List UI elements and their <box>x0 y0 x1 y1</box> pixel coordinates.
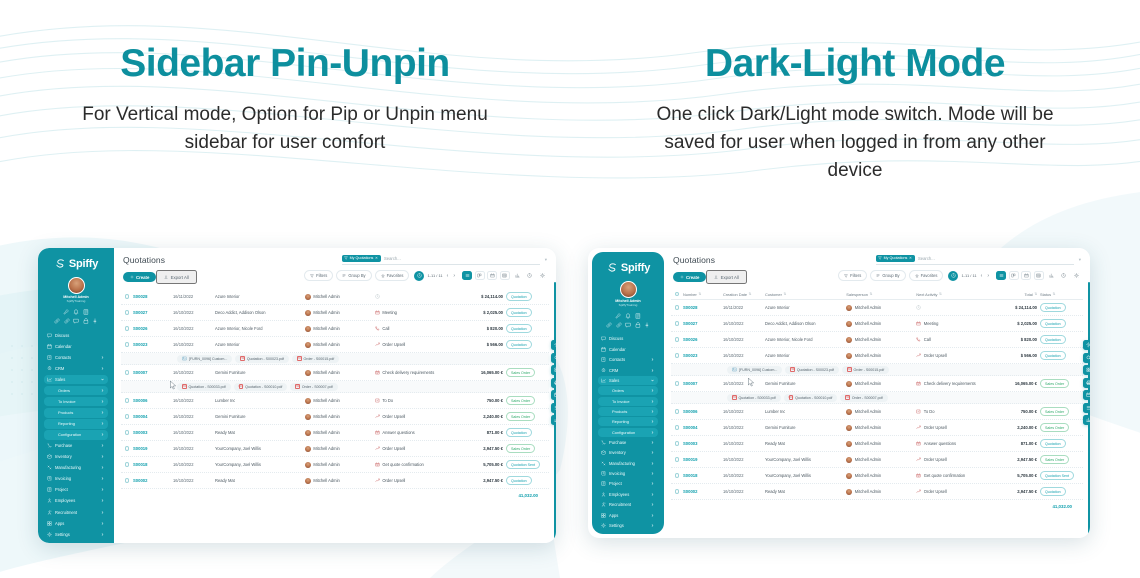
pager-prev-button[interactable]: ‹ <box>446 273 450 279</box>
invoicing-icon <box>47 476 52 481</box>
table-row[interactable]: S0000416/10/2022Gemini FurnitureMitchell… <box>671 420 1083 436</box>
sidebar-menu: DiscussCalendarContactsCRMSalesOrdersTo … <box>596 332 660 530</box>
table-row[interactable]: S0001916/10/2022YourCompany, Joel Willis… <box>121 441 549 457</box>
cell-next-activity[interactable]: To Do <box>375 398 393 403</box>
search-facet-my-quotations[interactable]: My Quotations✕ <box>876 255 915 262</box>
activity-label: Order Upsell <box>924 489 947 494</box>
attachment-label: Quotation - S00033.pdf <box>739 396 776 400</box>
sidebar-item-manufacturing[interactable]: Manufacturing <box>44 463 108 473</box>
cell-creation-date: 16/11/2022 <box>173 294 193 299</box>
cell-number[interactable]: S00023 <box>683 353 697 358</box>
activity-label: Order Upsell <box>382 342 405 347</box>
cell-number[interactable]: S00006 <box>133 398 147 403</box>
create-button[interactable]: Create <box>673 272 706 282</box>
status-badge: Quotation Sent <box>506 460 540 469</box>
rail-button-grid-rail[interactable] <box>551 365 556 375</box>
select-all-checkbox[interactable] <box>675 292 683 296</box>
chat-icon-button[interactable] <box>625 322 631 328</box>
column-header-salesperson[interactable]: Salesperson⇅ <box>846 292 916 297</box>
sidebar-item-recruitment[interactable]: Recruitment <box>44 507 108 517</box>
sidebar-item-settings[interactable]: Settings <box>44 529 108 539</box>
pager-prev-button[interactable]: ‹ <box>980 273 984 279</box>
rail-button-chart-rail[interactable] <box>1083 415 1090 425</box>
refresh-icon[interactable] <box>1071 271 1081 280</box>
purchase-icon <box>47 443 52 448</box>
cell-salesperson: Mitchell Admin <box>846 489 881 495</box>
activity-label: Order Upsell <box>924 353 947 358</box>
wrench-icon-button[interactable] <box>615 313 621 319</box>
cell-next-activity[interactable]: Order Upsell <box>916 425 946 430</box>
link-icon-button[interactable] <box>606 322 612 328</box>
view-switcher <box>996 271 1081 280</box>
table-row[interactable]: S0002716/10/2022Deco Addict, Addison Ols… <box>671 316 1083 332</box>
view-button-calendar-view[interactable] <box>487 271 497 280</box>
row-checkbox[interactable] <box>675 305 683 309</box>
cell-customer: Lumber Inc <box>215 398 235 403</box>
lock-icon-button[interactable] <box>635 322 641 328</box>
cell-next-activity[interactable]: Order Upsell <box>375 446 405 451</box>
sidebar-item-configuration[interactable]: Configuration <box>44 430 108 440</box>
avatar <box>846 441 852 447</box>
cell-next-activity[interactable]: Call <box>916 337 931 342</box>
sidebar-item-project[interactable]: Project <box>44 485 108 495</box>
filters-button[interactable]: Filters <box>838 270 867 281</box>
link-icon-button[interactable] <box>54 318 60 324</box>
cell-number[interactable]: S00018 <box>683 473 697 478</box>
link-alt-icon-button[interactable] <box>64 318 70 324</box>
cell-creation-date: 16/10/2022 <box>173 462 194 467</box>
avatar <box>68 277 85 294</box>
cell-total: 5,705.00 € <box>483 462 503 467</box>
bell-icon-button[interactable] <box>625 313 631 319</box>
sidebar-item-orders[interactable]: Orders <box>598 386 658 395</box>
star-icon <box>381 274 385 278</box>
sidebar-item-inventory[interactable]: Inventory <box>44 452 108 462</box>
attachment-chip[interactable]: PDFQuotation - S00023.pdf <box>235 355 289 363</box>
cell-next-activity[interactable]: Check delivery requirements <box>375 370 434 375</box>
sidebar-item-products[interactable]: Products <box>598 407 658 416</box>
cell-number[interactable]: S00028 <box>133 294 147 299</box>
attachment-chip[interactable]: PDFOrder - S00015.pdf <box>292 355 339 363</box>
cell-number[interactable]: S00026 <box>683 337 697 342</box>
cell-next-activity[interactable] <box>375 294 383 299</box>
attachment-chip[interactable]: PDFQuotation - S00033.pdf <box>177 383 231 391</box>
row-checkbox[interactable] <box>125 430 133 434</box>
chevron-right-icon <box>101 499 104 502</box>
create-button[interactable]: Create <box>123 272 156 282</box>
attachment-chips: PDFQuotation - S00033.pdfPDFQuotation - … <box>675 394 888 402</box>
sidebar-item-invoicing[interactable]: Invoicing <box>44 474 108 484</box>
calculator-icon-button[interactable] <box>83 309 89 315</box>
cell-salesperson: Mitchell Admin <box>305 310 340 316</box>
search-rail-icon <box>1086 355 1090 361</box>
salesperson-name: Mitchell Admin <box>313 414 339 419</box>
close-icon[interactable]: ✕ <box>909 256 912 260</box>
rail-button-print-rail[interactable] <box>551 378 556 388</box>
plus-icon <box>680 275 684 279</box>
column-label: Customer <box>765 292 782 297</box>
export-all-button[interactable]: Export All <box>706 270 746 284</box>
sidebar-item-reporting[interactable]: Reporting <box>44 419 108 429</box>
attachment-chip[interactable]: [FURN_0096] Custom... <box>177 355 232 363</box>
view-button-activity-view[interactable] <box>525 271 535 280</box>
table-row[interactable]: S0000316/10/2022Ready MatMitchell AdminA… <box>671 436 1083 452</box>
filter-icon <box>344 256 348 260</box>
sidebar-item-crm[interactable]: CRM <box>598 365 658 374</box>
rail-button-list-rail[interactable] <box>1083 403 1090 413</box>
column-header-customer[interactable]: Customer⇅ <box>765 292 846 297</box>
cell-number[interactable]: S00006 <box>683 409 697 414</box>
table-row[interactable]: S0000416/10/2022Gemini FurnitureMitchell… <box>121 409 549 425</box>
refresh-icon[interactable] <box>537 271 547 280</box>
view-button-pivot-view[interactable] <box>1034 271 1044 280</box>
search-input[interactable]: My Quotations✕Search... <box>342 255 540 265</box>
sidebar-item-crm[interactable]: CRM <box>44 363 108 373</box>
cell-next-activity[interactable]: Order Upsell <box>916 457 946 462</box>
row-checkbox[interactable] <box>675 473 683 477</box>
sidebar-item-reporting[interactable]: Reporting <box>598 417 658 426</box>
cell-number[interactable]: S00007 <box>133 370 147 375</box>
table-row[interactable]: S0002616/10/2022Azure Interior, Nicole F… <box>671 332 1083 348</box>
brand-logo[interactable]: Spiffy <box>42 255 110 275</box>
salesperson-name: Mitchell Admin <box>313 478 339 483</box>
wrench-icon-button[interactable] <box>63 309 69 315</box>
floating-right-rail <box>1083 340 1090 425</box>
rail-button-settings-gear[interactable] <box>551 340 556 350</box>
invoicing-icon <box>601 471 606 476</box>
salesperson-name: Mitchell Admin <box>855 337 881 342</box>
column-header-total[interactable]: Total⇅ <box>987 292 1037 297</box>
sidebar-item-employees[interactable]: Employees <box>598 490 658 499</box>
sidebar-item-discuss[interactable]: Discuss <box>44 330 108 340</box>
cell-creation-date: 16/10/2022 <box>173 310 194 315</box>
column-header-number[interactable]: Number⇅ <box>683 292 723 297</box>
column-header-status[interactable]: Status⇅ <box>1037 292 1079 297</box>
rail-button-chart-rail[interactable] <box>551 415 556 425</box>
row-checkbox[interactable] <box>125 370 133 374</box>
row-checkbox[interactable] <box>125 414 133 418</box>
table-row[interactable]: S0001916/10/2022YourCompany, Joel Willis… <box>671 452 1083 468</box>
cell-number[interactable]: S00028 <box>683 305 697 310</box>
view-button-pivot-view[interactable] <box>500 271 510 280</box>
table-row[interactable]: S0000616/10/2022Lumber IncMitchell Admin… <box>671 404 1083 420</box>
sort-icon: ⇅ <box>1053 292 1056 296</box>
cell-number[interactable]: S00007 <box>683 381 697 386</box>
cell-next-activity[interactable] <box>916 305 924 310</box>
cell-number[interactable]: S00003 <box>133 430 147 435</box>
cell-next-activity[interactable]: Check delivery requirements <box>916 381 975 386</box>
row-checkbox[interactable] <box>675 337 683 341</box>
rail-button-search-rail[interactable] <box>1083 353 1090 363</box>
sidebar-item-sales[interactable]: Sales <box>44 375 108 385</box>
avatar <box>846 457 852 463</box>
row-checkbox[interactable] <box>675 457 683 461</box>
view-button-kanban-view[interactable] <box>1009 271 1019 280</box>
status-badge: Quotation <box>506 476 532 485</box>
sidebar-item-label: Discuss <box>609 336 654 341</box>
table-row[interactable]: S0001816/10/2022YourCompany, Joel Willis… <box>121 457 549 473</box>
attachment-chip[interactable]: PDFOrder - S00007.pdf <box>840 394 887 402</box>
cell-number[interactable]: S00003 <box>683 441 697 446</box>
table-header-row: Number⇅Creation Date⇅Customer⇅Salesperso… <box>671 289 1083 300</box>
sidebar-item-contacts[interactable]: Contacts <box>598 355 658 364</box>
link-alt-icon <box>64 318 70 324</box>
group-by-label: Group By <box>882 273 899 278</box>
cell-next-activity[interactable]: Order Upsell <box>375 478 405 483</box>
row-checkbox[interactable] <box>125 462 133 466</box>
column-header-creation-date[interactable]: Creation Date⇅ <box>723 292 765 297</box>
table-row[interactable]: S0002316/10/2022Azure InteriorMitchell A… <box>671 348 1083 364</box>
attachment-label: Quotation - S00023.pdf <box>797 368 834 372</box>
pdf-icon: PDF <box>790 367 795 372</box>
link-alt-icon-button[interactable] <box>616 322 622 328</box>
cell-next-activity[interactable]: Meeting <box>375 310 397 315</box>
wrench-icon <box>615 313 621 319</box>
chevron-right-icon <box>101 444 104 447</box>
activity-clock-icon[interactable] <box>948 271 958 281</box>
rail-button-list-rail[interactable] <box>551 403 556 413</box>
search-facet-my-quotations[interactable]: My Quotations✕ <box>342 255 381 262</box>
chevron-right-icon <box>651 514 654 517</box>
attachment-chip[interactable]: PDFQuotation - S00023.pdf <box>785 366 839 374</box>
cell-next-activity[interactable]: Get quote confirmation <box>916 473 965 478</box>
sidebar-item-employees[interactable]: Employees <box>44 496 108 506</box>
table-row[interactable]: S0000216/10/2022Ready MatMitchell AdminO… <box>121 473 549 489</box>
group-by-button[interactable]: Group By <box>336 270 371 281</box>
chevron-down-icon[interactable]: ▾ <box>545 257 547 263</box>
contacts-icon <box>47 355 52 360</box>
cell-next-activity[interactable]: Order Upsell <box>916 353 946 358</box>
cell-number[interactable]: S00026 <box>133 326 147 331</box>
cell-next-activity[interactable]: To Do <box>916 409 934 414</box>
close-icon[interactable]: ✕ <box>375 256 378 260</box>
calculator-icon-button[interactable] <box>635 313 641 319</box>
sidebar-item-settings[interactable]: Settings <box>598 521 658 530</box>
sidebar-item-configuration[interactable]: Configuration <box>598 428 658 437</box>
avatar <box>846 425 852 431</box>
pane-header: QuotationsCreateExport AllMy Quotations✕… <box>664 248 1090 284</box>
attachment-label: Quotation - S00010.pdf <box>795 396 832 400</box>
sidebar-item-label: Invoicing <box>609 471 648 476</box>
sidebar-item-apps[interactable]: Apps <box>44 518 108 528</box>
filters-button[interactable]: Filters <box>304 270 333 281</box>
settings-gear-icon <box>1086 342 1090 348</box>
pin-icon-button[interactable] <box>92 318 98 324</box>
user-profile[interactable]: Mitchell AdminSpiffyTraining <box>596 279 660 311</box>
confirm-icon <box>375 462 380 467</box>
activity-label: Answer questions <box>382 430 414 435</box>
favorites-button[interactable]: Favorites <box>375 270 410 281</box>
table-row[interactable]: S0002616/10/2022Azure Interior, Nicole F… <box>121 321 549 337</box>
cell-number[interactable]: S00019 <box>683 457 697 462</box>
table-row[interactable]: S0002816/11/2022Azure InteriorMitchell A… <box>121 289 549 305</box>
call-icon <box>375 326 380 331</box>
cell-number[interactable]: S00004 <box>133 414 147 419</box>
sidebar-item-orders[interactable]: Orders <box>44 386 108 396</box>
sidebar-item-label: Calendar <box>609 347 654 352</box>
table-row[interactable]: S0000316/10/2022Ready MatMitchell AdminA… <box>121 425 549 441</box>
facet-label: My Quotations <box>884 256 908 260</box>
attachment-chip[interactable]: PDFQuotation - S00010.pdf <box>784 394 838 402</box>
rail-button-calendar-rail[interactable] <box>1083 390 1090 400</box>
view-switcher <box>462 271 547 280</box>
cell-number[interactable]: S00019 <box>133 446 147 451</box>
table-row[interactable]: S0000716/10/2022Gemini FurnitureMitchell… <box>671 376 1083 392</box>
chevron-right-icon <box>101 522 104 525</box>
table-row[interactable]: S0002316/10/2022Azure InteriorMitchell A… <box>121 337 549 353</box>
pin-icon-button[interactable] <box>644 322 650 328</box>
sidebar-item-purchase[interactable]: Purchase <box>598 438 658 447</box>
cell-number[interactable]: S00004 <box>683 425 697 430</box>
cell-number[interactable]: S00023 <box>133 342 147 347</box>
view-button-graph-view[interactable] <box>1046 271 1056 280</box>
cell-next-activity[interactable]: Call <box>375 326 390 331</box>
view-button-calendar-view[interactable] <box>1021 271 1031 280</box>
status-badge: Sales Order <box>506 412 535 421</box>
cell-next-activity[interactable]: Meeting <box>916 321 938 326</box>
view-button-list-view[interactable] <box>462 271 472 280</box>
cell-number[interactable]: S00018 <box>133 462 147 467</box>
pin-icon <box>644 322 650 328</box>
row-checkbox[interactable] <box>675 353 683 357</box>
sidebar-item-products[interactable]: Products <box>44 408 108 418</box>
floating-right-rail <box>551 340 556 425</box>
view-button-activity-view[interactable] <box>1059 271 1069 280</box>
table-row[interactable]: S0001816/10/2022YourCompany, Joel Willis… <box>671 468 1083 484</box>
table-row[interactable]: S0000616/10/2022Lumber IncMitchell Admin… <box>121 393 549 409</box>
cell-number[interactable]: S00002 <box>683 489 697 494</box>
row-checkbox[interactable] <box>125 398 133 402</box>
pdf-icon: PDF <box>182 384 187 389</box>
attachment-chip[interactable]: [FURN_0096] Custom... <box>727 366 782 374</box>
sort-icon: ⇅ <box>749 292 752 296</box>
chat-icon-button[interactable] <box>73 318 79 324</box>
sidebar-item-sales[interactable]: Sales <box>598 376 658 385</box>
salesperson-name: Mitchell Admin <box>313 342 339 347</box>
sidebar-item-to-invoice[interactable]: To Invoice <box>598 397 658 406</box>
chevron-down-icon[interactable]: ▾ <box>1079 257 1081 263</box>
cell-next-activity[interactable]: Order Upsell <box>916 489 946 494</box>
cell-next-activity[interactable]: Get quote confirmation <box>375 462 424 467</box>
sidebar-item-purchase[interactable]: Purchase <box>44 441 108 451</box>
row-checkbox[interactable] <box>125 310 133 314</box>
brand-logo[interactable]: Spiffy <box>596 259 660 279</box>
sidebar-item-contacts[interactable]: Contacts <box>44 352 108 362</box>
attachment-label: [FURN_0096] Custom... <box>739 368 777 372</box>
rail-button-calendar-rail[interactable] <box>551 390 556 400</box>
row-checkbox[interactable] <box>125 446 133 450</box>
cell-next-activity[interactable]: Order Upsell <box>375 414 405 419</box>
sidebar-item-recruitment[interactable]: Recruitment <box>598 500 658 509</box>
sidebar-item-label: Inventory <box>609 450 648 455</box>
group-by-button[interactable]: Group By <box>870 270 905 281</box>
favorites-button[interactable]: Favorites <box>909 270 944 281</box>
salesperson-name: Mitchell Admin <box>313 294 339 299</box>
rail-button-search-rail[interactable] <box>551 353 556 363</box>
cell-number[interactable]: S00002 <box>133 478 147 483</box>
status-badge: Quotation <box>1040 319 1066 328</box>
sidebar-item-to-invoice[interactable]: To Invoice <box>44 397 108 407</box>
cell-next-activity[interactable]: Answer questions <box>916 441 956 446</box>
search-input[interactable]: My Quotations✕Search... <box>876 255 1074 265</box>
favorites-label: Favorites <box>387 273 404 278</box>
sidebar-item-manufacturing[interactable]: Manufacturing <box>598 459 658 468</box>
row-checkbox[interactable] <box>675 321 683 325</box>
cell-creation-date: 16/10/2022 <box>723 409 744 414</box>
cell-salesperson: Mitchell Admin <box>846 353 881 359</box>
cell-salesperson: Mitchell Admin <box>305 462 340 468</box>
view-button-list-view[interactable] <box>996 271 1006 280</box>
table-row[interactable]: S0002716/10/2022Deco Addict, Addison Ols… <box>121 305 549 321</box>
salesperson-name: Mitchell Admin <box>855 321 881 326</box>
table-row[interactable]: S0000216/10/2022Ready MatMitchell AdminO… <box>671 484 1083 500</box>
table-footer-total: 41,032.00 <box>121 489 549 498</box>
attachment-chip[interactable]: PDFOrder - S00015.pdf <box>842 366 889 374</box>
salesperson-name: Mitchell Admin <box>855 409 881 414</box>
row-checkbox[interactable] <box>675 425 683 429</box>
cell-total: 750.00 € <box>487 398 503 403</box>
cell-total: 2,240.00 € <box>483 414 503 419</box>
attachment-chip[interactable]: PDFOrder - S00007.pdf <box>290 383 337 391</box>
row-checkbox[interactable] <box>675 489 683 493</box>
sidebar-item-apps[interactable]: Apps <box>598 510 658 519</box>
view-button-kanban-view[interactable] <box>475 271 485 280</box>
cell-salesperson: Mitchell Admin <box>305 342 340 348</box>
sidebar-item-discuss[interactable]: Discuss <box>598 334 658 343</box>
row-checkbox[interactable] <box>125 478 133 482</box>
cell-number[interactable]: S00027 <box>133 310 147 315</box>
manufacturing-icon <box>601 461 606 466</box>
row-checkbox[interactable] <box>125 342 133 346</box>
cell-number[interactable]: S00027 <box>683 321 697 326</box>
lock-icon-button[interactable] <box>83 318 89 324</box>
sidebar-item-invoicing[interactable]: Invoicing <box>598 469 658 478</box>
cell-next-activity[interactable]: Order Upsell <box>375 342 405 347</box>
pager-next-button[interactable]: › <box>452 273 456 279</box>
attachment-chip[interactable]: PDFQuotation - S00010.pdf <box>234 383 288 391</box>
row-checkbox[interactable] <box>125 326 133 330</box>
chat-icon <box>625 322 631 328</box>
row-checkbox[interactable] <box>125 294 133 298</box>
row-checkbox[interactable] <box>675 409 683 413</box>
rail-button-print-rail[interactable] <box>1083 378 1090 388</box>
pager-next-button[interactable]: › <box>986 273 990 279</box>
table-row[interactable]: S0000716/10/2022Gemini FurnitureMitchell… <box>121 365 549 381</box>
rail-button-grid-rail[interactable] <box>1083 365 1090 375</box>
rail-button-settings-gear[interactable] <box>1083 340 1090 350</box>
row-checkbox[interactable] <box>675 441 683 445</box>
sidebar-item-inventory[interactable]: Inventory <box>598 448 658 457</box>
bell-icon-button[interactable] <box>73 309 79 315</box>
row-checkbox[interactable] <box>675 381 683 385</box>
column-header-next-activity[interactable]: Next Activity⇅ <box>916 292 987 297</box>
sidebar-item-calendar[interactable]: Calendar <box>44 341 108 351</box>
activity-clock-icon[interactable] <box>414 271 424 281</box>
avatar <box>305 430 311 436</box>
cell-customer: Azure Interior, Nicole Ford <box>215 326 263 331</box>
attachment-chip[interactable]: PDFQuotation - S00033.pdf <box>727 394 781 402</box>
cell-next-activity[interactable]: Answer questions <box>375 430 415 435</box>
sidebar-item-calendar[interactable]: Calendar <box>598 345 658 354</box>
user-profile[interactable]: Mitchell AdminSpiffyTraining <box>42 275 110 307</box>
attachment-label: Quotation - S00023.pdf <box>247 357 284 361</box>
export-all-button[interactable]: Export All <box>156 270 196 284</box>
view-button-graph-view[interactable] <box>512 271 522 280</box>
cell-creation-date: 16/10/2022 <box>173 478 194 483</box>
grid-rail-icon <box>1086 367 1090 373</box>
sidebar-item-project[interactable]: Project <box>598 479 658 488</box>
table-row[interactable]: S0002816/11/2022Azure InteriorMitchell A… <box>671 300 1083 316</box>
